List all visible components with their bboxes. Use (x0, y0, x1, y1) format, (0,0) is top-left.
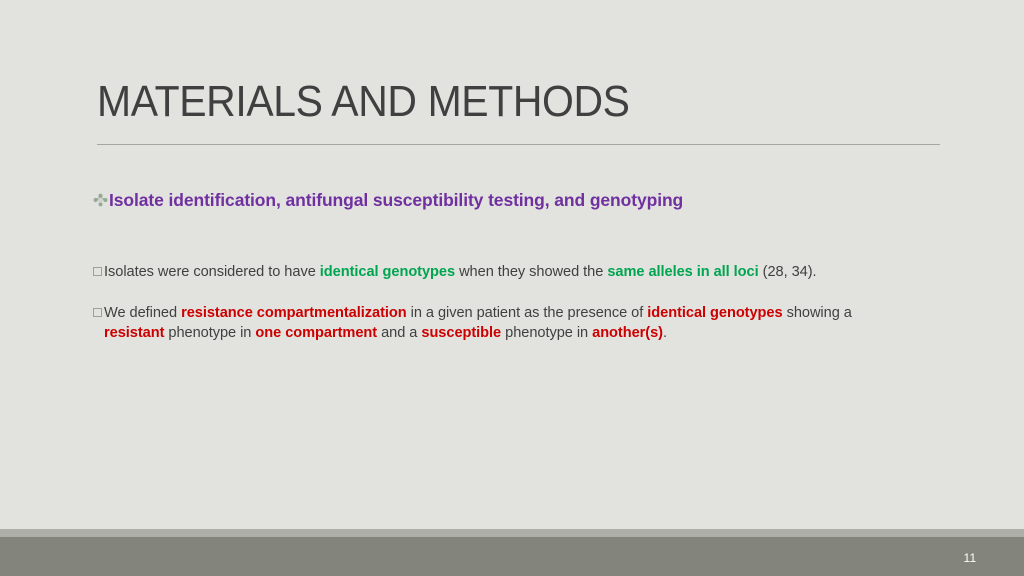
paragraph-text: Isolates were considered to have identic… (104, 262, 953, 283)
square-bullet-icon (93, 308, 102, 317)
diamond-bullet-icon (93, 193, 108, 211)
subheading-row: Isolate identification, antifungal susce… (93, 190, 953, 212)
footer-bar (0, 537, 1024, 576)
body-paragraph: Isolates were considered to have identic… (93, 262, 953, 283)
slide-content: Isolate identification, antifungal susce… (93, 190, 953, 344)
subheading-text: Isolate identification, antifungal susce… (109, 190, 683, 212)
body-paragraph: We defined resistance compartmentalizati… (93, 303, 953, 344)
footer-accent-strip (0, 529, 1024, 537)
title-divider (97, 144, 940, 145)
title-block: MATERIALS AND METHODS (97, 78, 942, 126)
square-bullet-icon (93, 267, 102, 276)
slide-canvas: MATERIALS AND METHODS (0, 0, 1024, 576)
page-title: MATERIALS AND METHODS (97, 78, 883, 126)
slide-number: 11 (916, 551, 1024, 565)
paragraph-text: We defined resistance compartmentalizati… (104, 303, 909, 344)
